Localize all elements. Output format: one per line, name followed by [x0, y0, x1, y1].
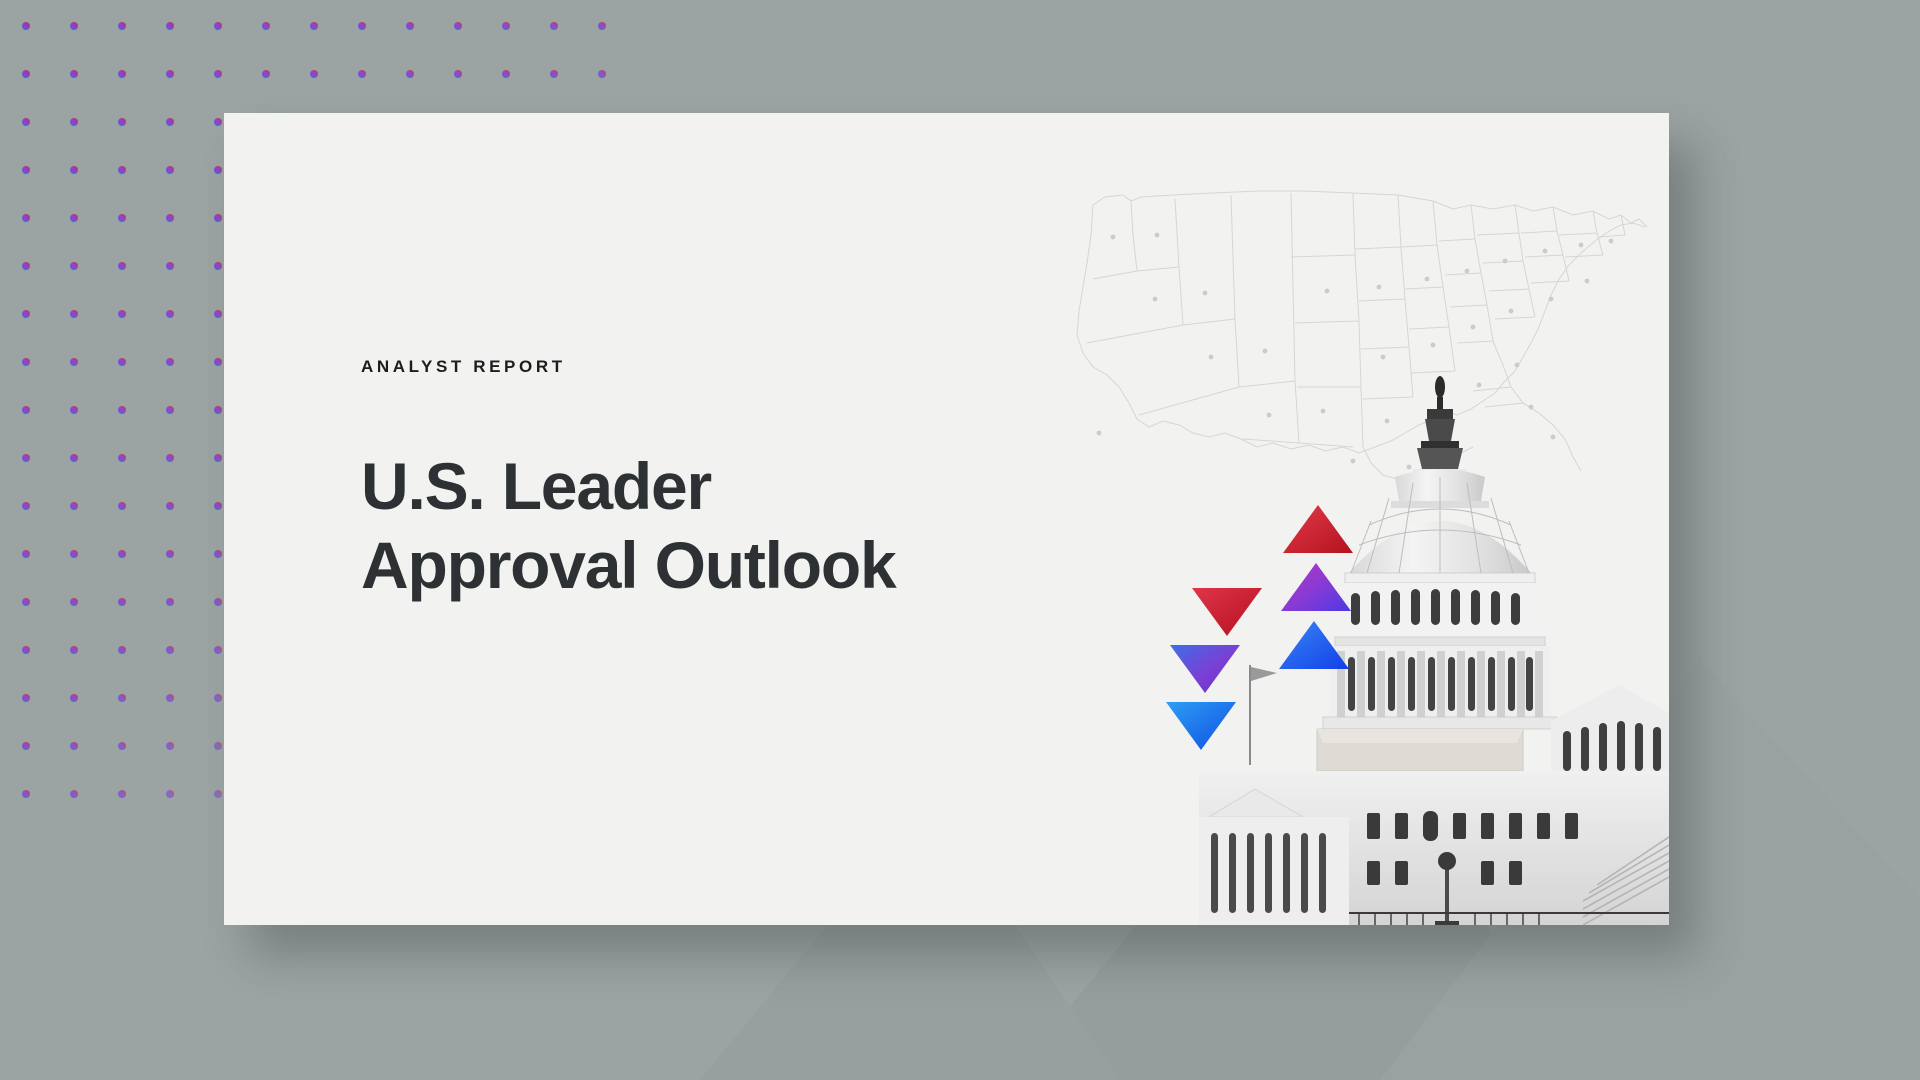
us-capitol-building-photo — [1199, 365, 1669, 925]
page-title: U.S. Leader Approval Outlook — [361, 447, 1081, 605]
headline-line-2: Approval Outlook — [361, 526, 1081, 605]
eyebrow-label: ANALYST REPORT — [361, 358, 1081, 375]
slide-card: ANALYST REPORT U.S. Leader Approval Outl… — [224, 113, 1669, 925]
slide-text-block: ANALYST REPORT U.S. Leader Approval Outl… — [361, 358, 1081, 605]
slide-canvas: ANALYST REPORT U.S. Leader Approval Outl… — [0, 0, 1920, 1080]
headline-line-1: U.S. Leader — [361, 447, 1081, 526]
